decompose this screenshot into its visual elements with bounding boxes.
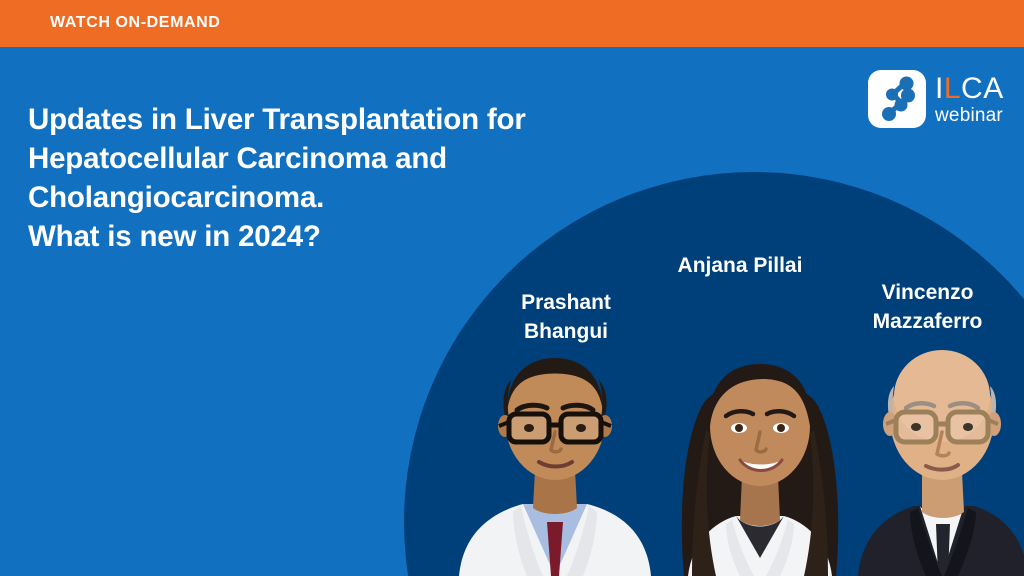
- speaker-first-name: Prashant: [491, 288, 641, 317]
- speaker-photo-prashant-bhangui: [455, 346, 655, 576]
- banner-label: WATCH ON-DEMAND: [50, 14, 220, 32]
- page-title: Updates in Liver Transplantation for Hep…: [28, 100, 668, 256]
- speaker-full-name-line: Anjana: [678, 254, 754, 277]
- speaker-last-name: Bhangui: [491, 317, 641, 346]
- speaker-last-name: Mazzaferro: [840, 307, 1015, 336]
- ilca-wordmark: ILCA: [935, 74, 1004, 104]
- ilca-logo-text: ILCA webinar: [935, 74, 1004, 125]
- title-line-1: Updates in Liver Transplantation for: [28, 100, 668, 139]
- speaker-name-vincenzo-mazzaferro: Vincenzo Mazzaferro: [840, 278, 1015, 336]
- logo-subtitle: webinar: [935, 106, 1004, 125]
- logo-letter-i: I: [935, 72, 944, 105]
- title-line-4: What is new in 2024?: [28, 217, 668, 256]
- speaker-photo-anjana-pillai: [662, 330, 858, 576]
- ilca-molecule-icon: [868, 70, 926, 128]
- speaker-photo-vincenzo-mazzaferro: [852, 338, 1024, 576]
- title-line-2: Hepatocellular Carcinoma and: [28, 139, 668, 178]
- speaker-name-anjana-pillai: Anjana Pillai: [655, 251, 825, 280]
- watch-on-demand-banner: WATCH ON-DEMAND: [0, 0, 1024, 47]
- logo-letters-ca: CA: [961, 72, 1004, 105]
- speaker-name-prashant-bhangui: Prashant Bhangui: [491, 288, 641, 346]
- title-line-3: Cholangiocarcinoma.: [28, 178, 668, 217]
- speaker-first-name: Vincenzo: [840, 278, 1015, 307]
- logo-letter-l: L: [944, 72, 961, 105]
- webinar-promo-banner: Updates in Liver Transplantation for Hep…: [0, 0, 1024, 576]
- ilca-webinar-logo[interactable]: ILCA webinar: [868, 66, 1014, 132]
- speaker-last-name: Pillai: [753, 254, 802, 277]
